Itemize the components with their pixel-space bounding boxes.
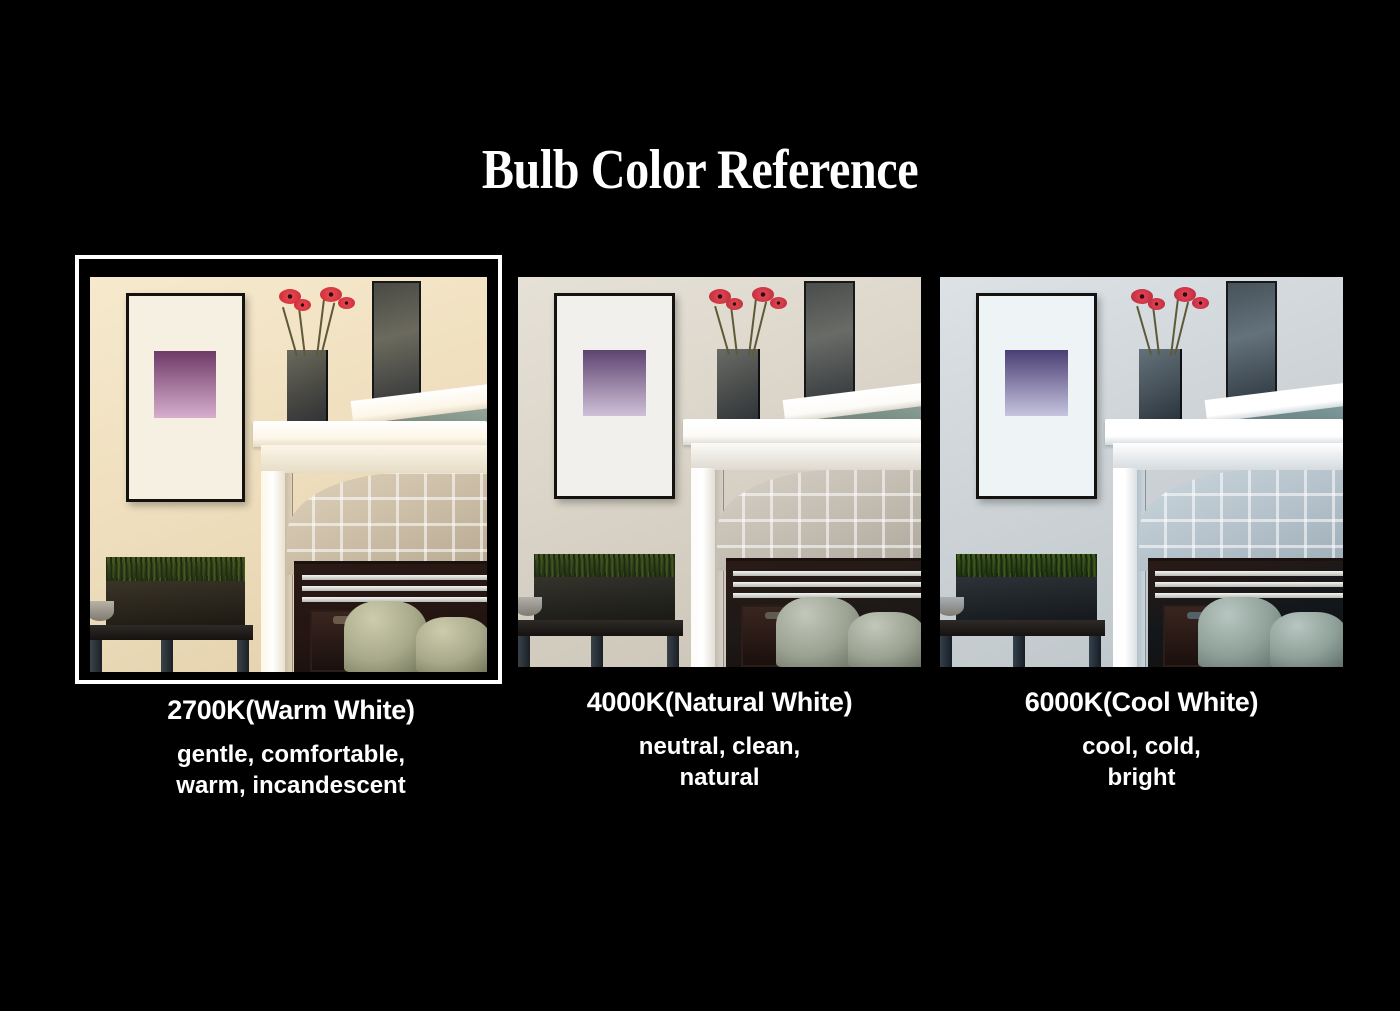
caption-description: cool, cold, bright (940, 732, 1343, 793)
scene-photo-2700k (90, 277, 487, 672)
panel-frame-4000k (518, 255, 921, 667)
console-table-leg (667, 636, 679, 667)
caption-4000k: 4000K(Natural White) neutral, clean, nat… (518, 687, 921, 793)
artwork-image (1005, 350, 1068, 416)
panel-frame-6000k (940, 255, 1343, 667)
console-table-top (90, 625, 253, 641)
console-table-top (940, 620, 1105, 636)
fireplace-mantel (683, 419, 921, 444)
artwork-image (154, 351, 216, 418)
flower-vase (1139, 349, 1181, 427)
red-flower (1192, 297, 1209, 309)
bulb-color-panels: 2700K(Warm White) gentle, comfortable, w… (0, 0, 1400, 1011)
firebox-bar (733, 582, 921, 587)
caption-title: 4000K(Natural White) (518, 687, 921, 718)
caption-2700k: 2700K(Warm White) gentle, comfortable, w… (51, 695, 531, 801)
firebox-bar (302, 586, 487, 591)
framed-artwork (554, 293, 675, 500)
flower-vase (717, 349, 759, 427)
fireplace-mantel (1105, 419, 1343, 444)
caption-line: neutral, clean, (518, 732, 921, 763)
mantel-body (691, 443, 921, 470)
caption-title: 6000K(Cool White) (940, 687, 1343, 718)
console-table-top (518, 620, 683, 636)
panel-selection-frame-2700k (75, 255, 502, 684)
mantel-column (1113, 468, 1139, 667)
caption-line: natural (518, 763, 921, 794)
grass-planter-box (534, 577, 675, 620)
scene-photo-6000k (940, 277, 1343, 667)
ottoman (344, 601, 427, 672)
caption-line: cool, cold, (940, 732, 1343, 763)
red-flower (338, 297, 355, 309)
room-scene (940, 277, 1343, 667)
console-table-leg (1013, 636, 1025, 667)
red-flower (770, 297, 787, 309)
caption-title: 2700K(Warm White) (51, 695, 531, 726)
console-table-leg (1089, 636, 1101, 667)
mantel-body (1113, 443, 1343, 470)
framed-artwork (976, 293, 1097, 500)
flower-vase (287, 350, 329, 429)
console-table-leg (591, 636, 603, 667)
artwork-image (583, 350, 646, 416)
caption-6000k: 6000K(Cool White) cool, cold, bright (940, 687, 1343, 793)
caption-line: bright (940, 763, 1343, 794)
ottoman (416, 617, 487, 672)
bulb-panel-2700k[interactable]: 2700K(Warm White) gentle, comfortable, w… (75, 255, 502, 684)
caption-description: neutral, clean, natural (518, 732, 921, 793)
firebox-bar (302, 575, 487, 580)
mantel-body (261, 445, 487, 473)
room-scene (90, 277, 487, 672)
console-table-leg (90, 640, 102, 672)
firebox-bar (1155, 582, 1343, 587)
console-table-leg (940, 636, 952, 667)
caption-description: gentle, comfortable, warm, incandescent (51, 740, 531, 801)
ottoman (1270, 612, 1343, 667)
mantel-column (691, 468, 717, 667)
grass-planter-box (106, 581, 245, 624)
ottoman (848, 612, 921, 667)
red-flower (294, 299, 311, 311)
console-table-leg (518, 636, 530, 667)
bulb-panel-6000k[interactable]: 6000K(Cool White) cool, cold, bright (940, 255, 1343, 667)
firebox-bar (1155, 571, 1343, 576)
console-table-leg (161, 640, 173, 672)
scene-photo-4000k (518, 277, 921, 667)
decorative-bowl (90, 601, 114, 621)
caption-line: gentle, comfortable, (51, 740, 531, 771)
mantel-column (261, 471, 287, 672)
console-table-leg (237, 640, 249, 672)
room-scene (518, 277, 921, 667)
framed-artwork (126, 293, 245, 502)
fireplace-mantel (253, 421, 487, 447)
caption-line: warm, incandescent (51, 771, 531, 802)
firebox-bar (733, 571, 921, 576)
grass-planter-box (956, 577, 1097, 620)
bulb-panel-4000k[interactable]: 4000K(Natural White) neutral, clean, nat… (518, 255, 921, 667)
